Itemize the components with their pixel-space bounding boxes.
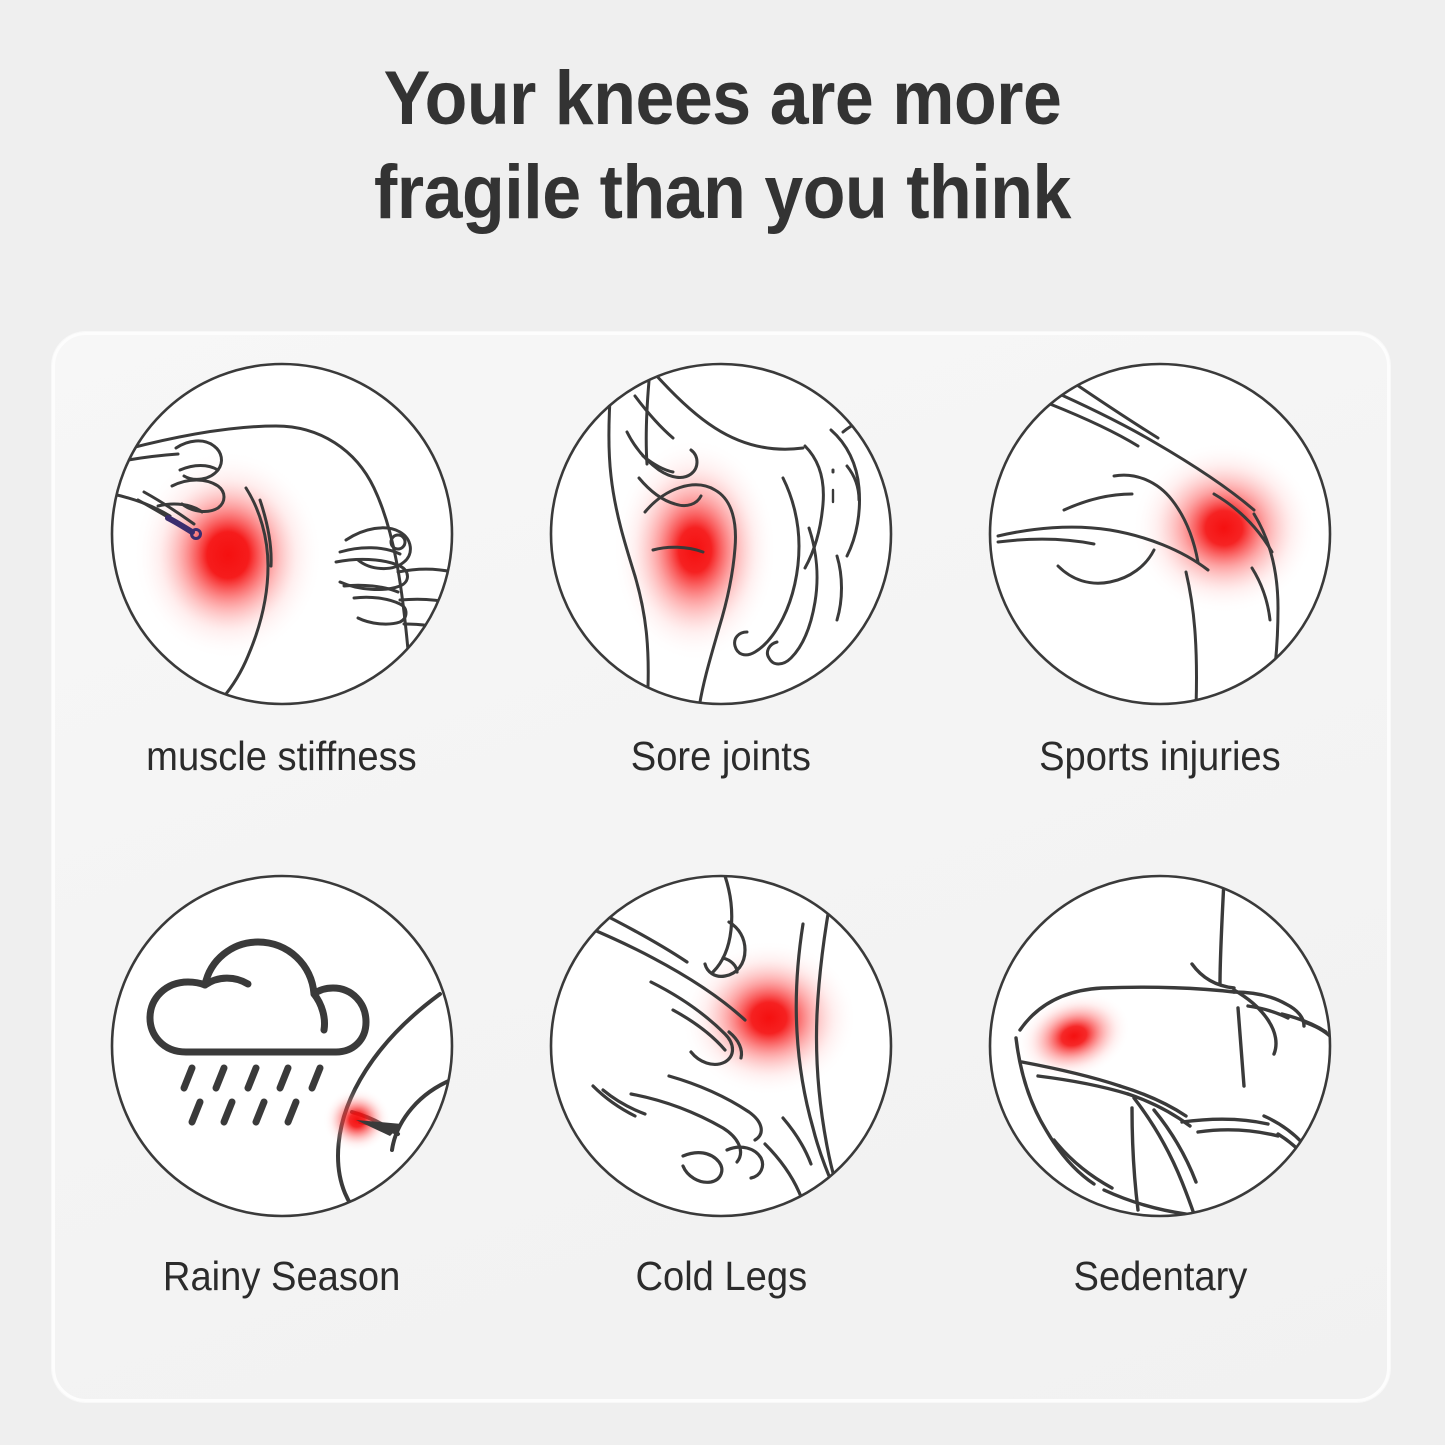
grid-item-sedentary[interactable]: Sedentary xyxy=(941,872,1380,1384)
illustration-sore-joints xyxy=(547,360,895,708)
illustration-sports-injuries xyxy=(986,360,1334,708)
symptom-grid: muscle stiffness xyxy=(52,332,1390,1402)
label-sedentary: Sedentary xyxy=(1073,1252,1247,1300)
page-title-line-1: Your knees are more xyxy=(58,52,1387,146)
label-rainy-season: Rainy Season xyxy=(163,1252,400,1300)
page-title: Your knees are more fragile than you thi… xyxy=(58,52,1387,240)
illustration-muscle-stiffness xyxy=(108,360,456,708)
grid-item-rainy-season[interactable]: Rainy Season xyxy=(62,872,501,1384)
illustration-cold-legs xyxy=(547,872,895,1220)
label-sore-joints: Sore joints xyxy=(631,732,811,780)
label-sports-injuries: Sports injuries xyxy=(1040,732,1282,780)
grid-item-cold-legs[interactable]: Cold Legs xyxy=(501,872,940,1384)
grid-item-sports-injuries[interactable]: Sports injuries xyxy=(941,360,1380,872)
page-title-line-2: fragile than you think xyxy=(58,146,1387,240)
grid-item-muscle-stiffness[interactable]: muscle stiffness xyxy=(62,360,501,872)
infographic-page: Your knees are more fragile than you thi… xyxy=(0,0,1445,1445)
grid-item-sore-joints[interactable]: Sore joints xyxy=(501,360,940,872)
label-muscle-stiffness: muscle stiffness xyxy=(146,732,417,780)
illustration-rainy-season xyxy=(108,872,456,1220)
illustration-sedentary xyxy=(986,872,1334,1220)
label-cold-legs: Cold Legs xyxy=(635,1252,807,1300)
